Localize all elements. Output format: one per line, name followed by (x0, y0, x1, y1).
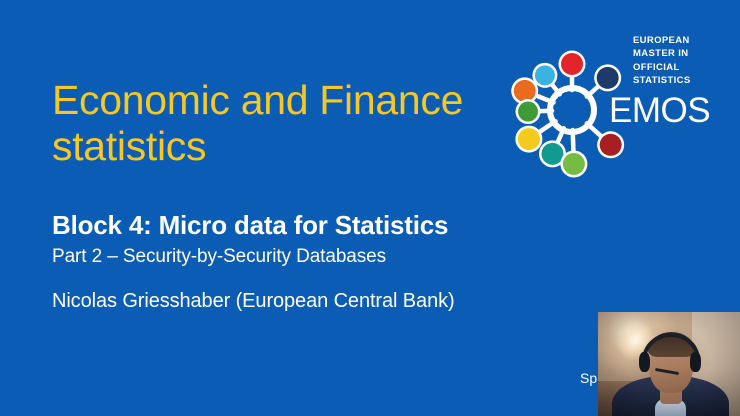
subtitle-block: Block 4: Micro data for Statistics Part … (52, 210, 542, 269)
presentation-slide: EUROPEAN MASTER IN OFFICIAL STATISTICS E… (0, 0, 740, 416)
webcam-vignette (598, 312, 740, 416)
emos-tagline: EUROPEAN MASTER IN OFFICIAL STATISTICS (633, 34, 739, 88)
emos-logo-text: EUROPEAN MASTER IN OFFICIAL STATISTICS E… (633, 34, 739, 128)
logo-hub-ring (550, 88, 594, 132)
node-teal (541, 143, 563, 165)
presenter-webcam-feed[interactable] (598, 312, 740, 416)
footer-partial-text: Sp (580, 370, 597, 386)
slide-subtitle: Block 4: Micro data for Statistics (52, 210, 542, 241)
node-navy (597, 67, 619, 89)
node-lightblue (535, 65, 555, 85)
node-lightgreen (563, 153, 585, 175)
logo-nodes (511, 51, 624, 178)
emos-logo: EUROPEAN MASTER IN OFFICIAL STATISTICS E… (497, 22, 740, 197)
title-block: Economic and Finance statistics (52, 78, 522, 170)
node-red (561, 53, 583, 75)
slide-sub-subtitle: Part 2 – Security-by-Security Databases (52, 245, 542, 269)
node-darkred (600, 134, 622, 156)
presenter-name: Nicolas Griesshaber (European Central Ba… (52, 290, 455, 313)
page-title: Economic and Finance statistics (52, 78, 522, 170)
emos-wordmark: EMOS (609, 93, 739, 128)
